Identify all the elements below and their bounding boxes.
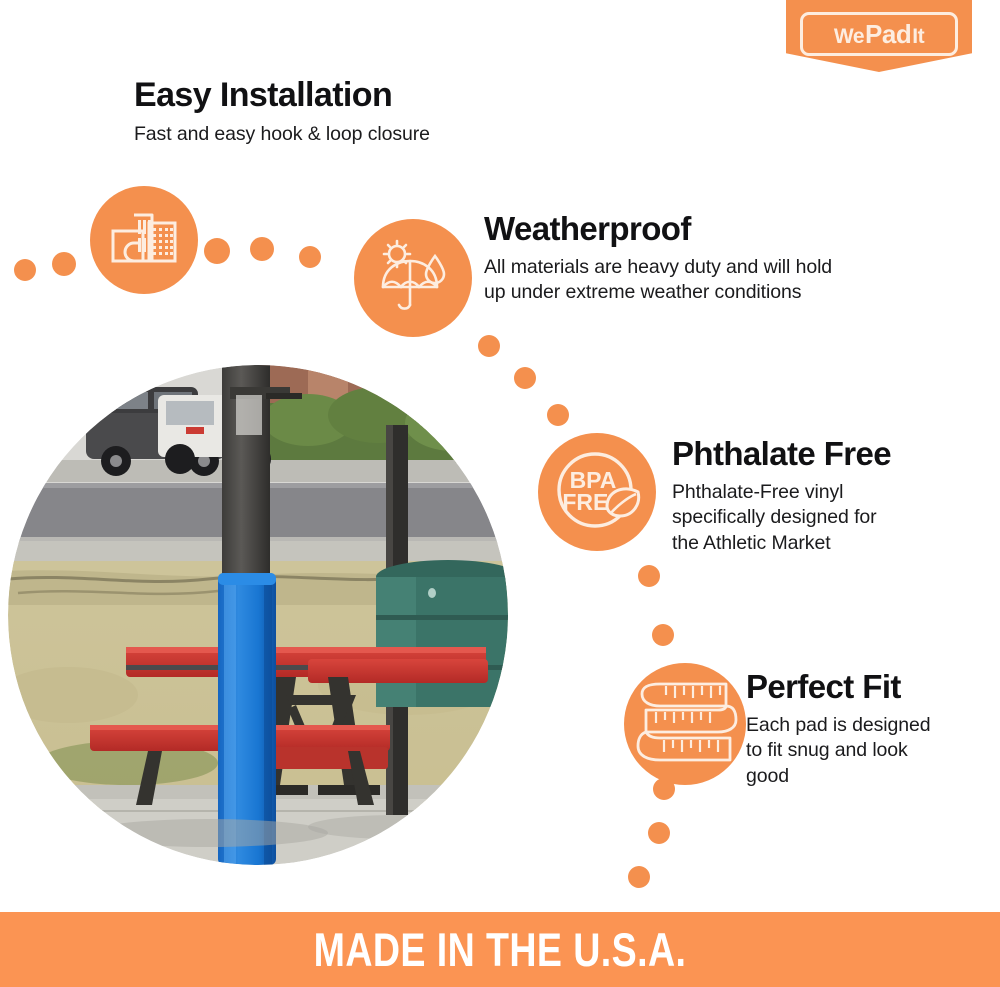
- feature-weatherproof: Weatherproof All materials are heavy dut…: [484, 212, 832, 306]
- hook-and-loop-strap-icon: [90, 186, 198, 294]
- path-dot: [250, 237, 274, 261]
- feature-description-line2: specifically designed for: [672, 505, 891, 531]
- path-dot: [628, 866, 650, 888]
- path-dot: [14, 259, 36, 281]
- feature-perfect-fit: Perfect Fit Each pad is designed to fit …: [746, 670, 930, 790]
- feature-description: Fast and easy hook & loop closure: [134, 122, 430, 148]
- logo-wordmark: WePadIt: [834, 21, 924, 47]
- path-dot: [478, 335, 500, 357]
- feature-description-line1: Phthalate-Free vinyl: [672, 480, 891, 506]
- feature-description-line1: Each pad is designed: [746, 713, 930, 739]
- feature-description-line3: the Athletic Market: [672, 531, 891, 557]
- path-dot: [638, 565, 660, 587]
- path-dot: [52, 252, 76, 276]
- brand-logo: WePadIt: [786, 0, 972, 72]
- infographic-page: WePadIt Easy Installation Fast and easy …: [0, 0, 1000, 987]
- logo-text-we: We: [834, 26, 864, 47]
- product-photo: [8, 365, 508, 865]
- feature-title: Phthalate Free: [672, 437, 891, 472]
- path-dot: [652, 624, 674, 646]
- feature-title: Perfect Fit: [746, 670, 930, 705]
- bpa-free-leaf-icon: BPA FREE: [538, 433, 656, 551]
- path-dot: [299, 246, 321, 268]
- logo-outline-box: WePadIt: [800, 12, 958, 56]
- feature-description-line3: good: [746, 764, 930, 790]
- feature-description-line2: to fit snug and look: [746, 738, 930, 764]
- path-dot: [547, 404, 569, 426]
- path-dot: [204, 238, 230, 264]
- feature-description-line1: All materials are heavy duty and will ho…: [484, 255, 832, 281]
- umbrella-sun-raindrop-icon: [354, 219, 472, 337]
- feature-title: Easy Installation: [134, 78, 430, 114]
- measuring-tape-icon: [624, 663, 746, 785]
- feature-description-line2: up under extreme weather conditions: [484, 280, 832, 306]
- made-in-usa-text: MADE IN THE U.S.A.: [314, 926, 687, 973]
- path-dot: [514, 367, 536, 389]
- feature-easy-installation: Easy Installation Fast and easy hook & l…: [134, 78, 430, 147]
- logo-text-it: It: [912, 26, 924, 47]
- feature-phthalate-free: Phthalate Free Phthalate-Free vinyl spec…: [672, 437, 891, 557]
- path-dot: [648, 822, 670, 844]
- made-in-usa-banner: MADE IN THE U.S.A.: [0, 912, 1000, 987]
- logo-text-pad: Pad: [865, 21, 911, 47]
- feature-title: Weatherproof: [484, 212, 832, 247]
